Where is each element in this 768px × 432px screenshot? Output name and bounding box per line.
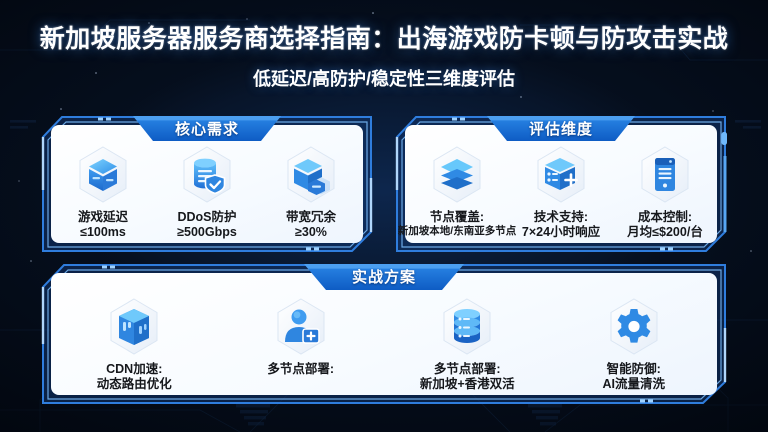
database-stack-icon — [441, 298, 493, 355]
item-node-coverage[interactable]: 节点覆盖: 新加坡本地/东南亚多节点 — [409, 146, 506, 238]
item-label-line2: 月均≤$200/台 — [627, 225, 703, 240]
database-shield-icon — [181, 146, 233, 203]
item-bandwidth-redundancy[interactable]: 带宽冗余 ≥30% — [263, 146, 360, 241]
item-label-line2: ≥30% — [295, 225, 327, 240]
card-banner: 核心需求 — [133, 116, 281, 141]
server-tower-icon — [108, 298, 160, 355]
item-label-line2: 新加坡+香港双活 — [420, 377, 515, 392]
item-label-line1: 多节点部署: — [267, 362, 334, 377]
item-label-line1: 游戏延迟 — [78, 210, 128, 225]
item-ddos-protection[interactable]: DDoS防护 ≥500Gbps — [159, 146, 256, 241]
item-technical-support[interactable]: 技术支持: 7×24小时响应 — [513, 146, 610, 241]
item-multi-node-deploy-1[interactable]: 多节点部署: — [221, 298, 381, 377]
item-label-line2: AI流量清洗 — [602, 377, 665, 392]
item-game-latency[interactable]: 游戏延迟 ≤100ms — [55, 146, 152, 241]
card-practical-solutions: 实战方案 CDN加速: 动态路由优化 — [42, 264, 726, 404]
item-label-line2: 7×24小时响应 — [522, 225, 600, 240]
item-label-line1: 技术支持: — [534, 210, 588, 225]
item-label-line1: 带宽冗余 — [286, 210, 336, 225]
card-items: CDN加速: 动态路由优化 多节点部署: — [51, 298, 717, 392]
page-title: 新加坡服务器服务商选择指南：出海游戏防卡顿与防攻击实战 — [0, 26, 768, 54]
card-core-requirements: 核心需求 — [42, 116, 372, 252]
card-banner-label: 核心需求 — [175, 118, 239, 139]
card-items: 游戏延迟 ≤100ms — [51, 146, 363, 240]
card-items: 节点覆盖: 新加坡本地/东南亚多节点 — [405, 146, 717, 240]
item-multi-node-deploy-2[interactable]: 多节点部署: 新加坡+香港双活 — [387, 298, 547, 393]
page-subtitle: 低延迟/高防护/稳定性三维度评估 — [0, 65, 768, 91]
card-evaluation-dimensions: 评估维度 节点覆盖: 新加坡本地/东南亚多节点 — [396, 116, 726, 252]
card-banner-label: 实战方案 — [352, 266, 416, 287]
card-banner: 评估维度 — [487, 116, 635, 141]
card-banner-label: 评估维度 — [529, 118, 593, 139]
item-cost-control[interactable]: 成本控制: 月均≤$200/台 — [617, 146, 714, 241]
title-block: 新加坡服务器服务商选择指南：出海游戏防卡顿与防攻击实战 低延迟/高防护/稳定性三… — [0, 26, 768, 91]
item-label-line2: 新加坡本地/东南亚多节点 — [398, 225, 516, 238]
server-plus-icon — [535, 146, 587, 203]
card-banner: 实战方案 — [304, 264, 464, 289]
user-add-icon — [275, 298, 327, 355]
item-label-line1: 智能防御: — [607, 362, 661, 377]
item-label-line2: 动态路由优化 — [97, 377, 172, 392]
item-label-line1: 多节点部署: — [434, 362, 501, 377]
item-label-line2: ≥500Gbps — [177, 225, 237, 240]
server-rack-icon — [639, 146, 691, 203]
layers-stack-icon — [431, 146, 483, 203]
item-label-line1: 成本控制: — [638, 210, 692, 225]
layered-cube-icon — [77, 146, 129, 203]
cube-bandwidth-icon — [285, 146, 337, 203]
item-label-line2: ≤100ms — [80, 225, 126, 240]
item-label-line1: DDoS防护 — [177, 210, 236, 225]
slide-stage: 新加坡服务器服务商选择指南：出海游戏防卡顿与防攻击实战 低延迟/高防护/稳定性三… — [0, 0, 768, 432]
gear-icon — [608, 298, 660, 355]
item-label-line1: 节点覆盖: — [430, 210, 484, 225]
item-cdn-acceleration[interactable]: CDN加速: 动态路由优化 — [54, 298, 214, 393]
item-intelligent-defense[interactable]: 智能防御: AI流量清洗 — [554, 298, 714, 393]
item-label-line1: CDN加速: — [106, 362, 162, 377]
